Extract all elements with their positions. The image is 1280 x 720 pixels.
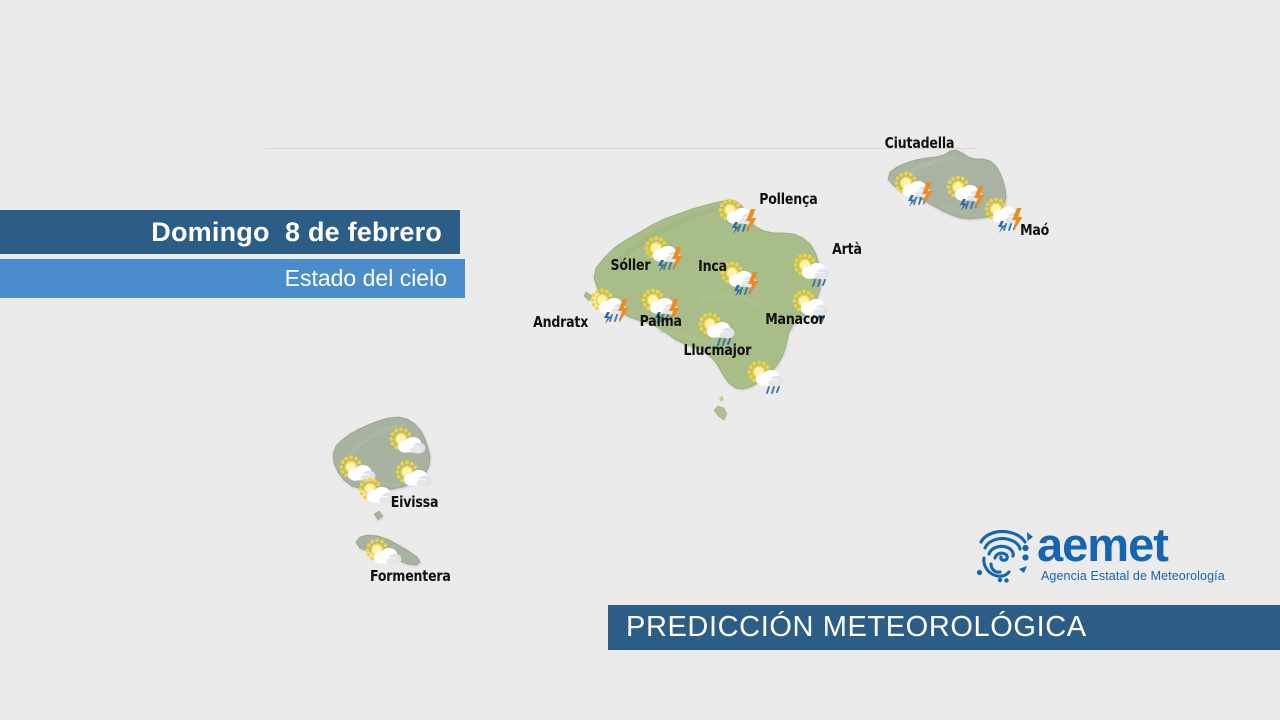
- forecast-sky-bar: Estado del cielo: [0, 259, 465, 298]
- city-label: Artà: [832, 240, 862, 258]
- aemet-wordmark: aemet: [1037, 521, 1168, 568]
- forecast-day-bar: Domingo 8 de febrero: [0, 210, 460, 254]
- city-label: Formentera: [370, 567, 451, 585]
- aemet-tagline: Agencia Estatal de Meteorología: [1041, 569, 1225, 583]
- city-label: Pollença: [759, 190, 817, 208]
- city-label: Eivissa: [391, 493, 438, 511]
- forecast-day-label: Domingo 8 de febrero: [151, 217, 442, 248]
- city-label: Maó: [1020, 221, 1049, 239]
- city-label: Palma: [640, 312, 682, 330]
- aemet-logo: aemet Agencia Estatal de Meteorología: [975, 525, 1225, 587]
- city-label: Andratx: [533, 313, 588, 331]
- city-label: Llucmajor: [684, 341, 752, 359]
- city-label: Sóller: [611, 256, 651, 274]
- bottom-banner: PREDICCIÓN METEOROLÓGICA: [608, 605, 1280, 650]
- city-label: Manacor: [765, 310, 824, 328]
- bottom-banner-text: PREDICCIÓN METEOROLÓGICA: [626, 611, 1087, 644]
- city-label: Ciutadella: [885, 134, 955, 152]
- forecast-sky-label: Estado del cielo: [285, 265, 447, 292]
- city-label: Inca: [698, 257, 727, 275]
- aemet-spain-swirl-icon: [975, 525, 1035, 583]
- weather-forecast-screen: PollençaArtàSóllerIncaManacorAndratxPalm…: [0, 0, 1280, 720]
